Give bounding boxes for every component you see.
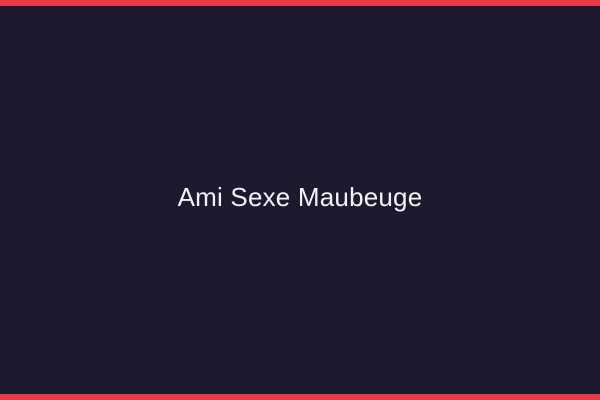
title-block: Ami Sexe Maubeuge [0,183,600,213]
placard-card: Ami Sexe Maubeuge [0,0,600,400]
banner-stage: Ami Sexe Maubeuge [0,6,600,394]
bottom-accent-bar [0,394,600,400]
page-title: Ami Sexe Maubeuge [24,183,576,213]
